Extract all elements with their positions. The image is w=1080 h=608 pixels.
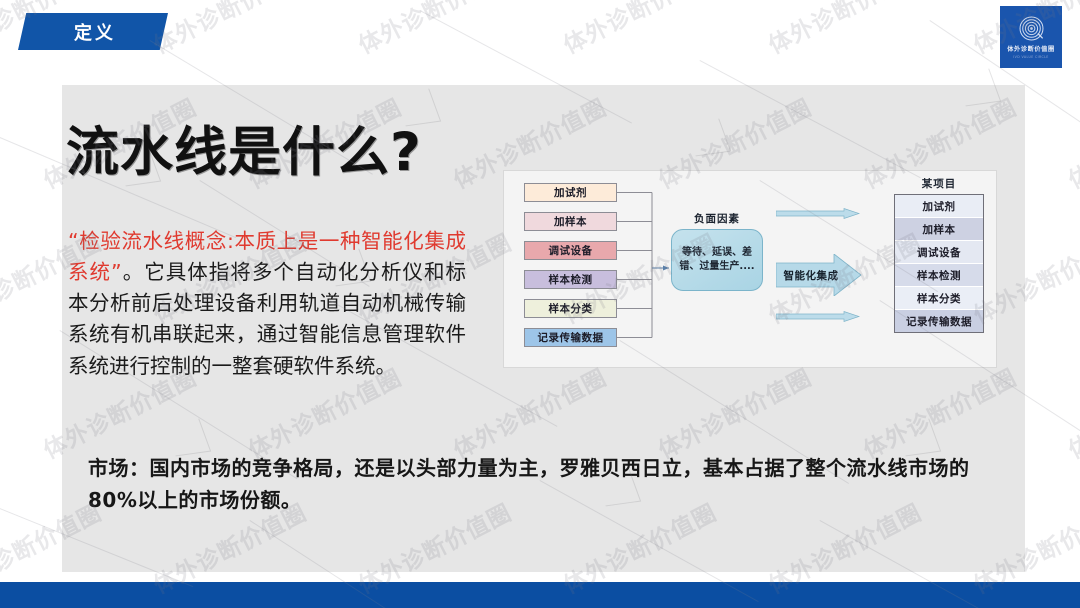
logo-subtitle: IVD VALUE CIRCLE: [1013, 55, 1048, 59]
watermark-text: 体外诊断价值圈: [146, 0, 311, 60]
watermark-text: 体外诊断价值圈: [761, 0, 926, 60]
definition-rest: 。它具体指将多个自动化分析仪和标本分析前后处理设备利用轨道自动机械传输系统有机串…: [68, 260, 466, 377]
diagram-right-step: 记录传输数据: [895, 310, 983, 332]
thin-arrow-top: [776, 208, 860, 219]
watermark-text: 体外诊断价值圈: [1061, 89, 1080, 196]
integration-arrow-label: 智能化集成: [780, 254, 842, 296]
watermark-text: 体外诊断价值圈: [351, 0, 516, 60]
diagram-right-step: 调试设备: [895, 241, 983, 264]
watermark-text: 体外诊断价值圈: [1061, 359, 1080, 466]
watermark-text: 体外诊断价值圈: [556, 0, 721, 60]
diagram-right-step: 样本检测: [895, 264, 983, 287]
section-tag-label: 定义: [18, 13, 168, 50]
thin-arrow-bottom: [776, 311, 860, 322]
diagram-right-step: 样本分类: [895, 287, 983, 310]
process-diagram: 加试剂加样本调试设备样本检测样本分类记录传输数据 负面因素 等待、延误、差错、过…: [503, 170, 997, 368]
bottom-bar: [0, 582, 1080, 608]
page-title: 流水线是什么?: [66, 126, 422, 179]
diagram-right-column: 某项目 加试剂加样本调试设备样本检测样本分类记录传输数据: [894, 176, 984, 356]
brand-logo: 体外诊断价值圈 IVD VALUE CIRCLE: [1000, 6, 1062, 68]
slide-root: 定义 体外诊断价值圈 IVD VALUE CIRCLE 流水线是什么? “检验流…: [0, 0, 1080, 608]
diagram-inner: 加试剂加样本调试设备样本检测样本分类记录传输数据 负面因素 等待、延误、差错、过…: [504, 171, 996, 367]
section-tag: 定义: [18, 13, 168, 50]
market-paragraph: 市场：国内市场的竞争格局，还是以头部力量为主，罗雅贝西日立，基本占据了整个流水线…: [88, 452, 978, 516]
negative-factors-box: 等待、延误、差错、过量生产....: [671, 229, 763, 291]
integration-arrow-wrap: 智能化集成: [776, 254, 862, 296]
logo-name: 体外诊断价值圈: [1007, 44, 1055, 53]
project-step-stack: 加试剂加样本调试设备样本检测样本分类记录传输数据: [894, 194, 984, 333]
definition-paragraph: “检验流水线概念:本质上是一种智能化集成系统”。它具体指将多个自动化分析仪和标本…: [68, 226, 466, 382]
diagram-right-step: 加样本: [895, 218, 983, 241]
spiral-target-icon: [1018, 15, 1045, 42]
project-title: 某项目: [894, 176, 984, 191]
negative-factors-label: 负面因素: [671, 211, 763, 226]
diagram-right-step: 加试剂: [895, 195, 983, 218]
